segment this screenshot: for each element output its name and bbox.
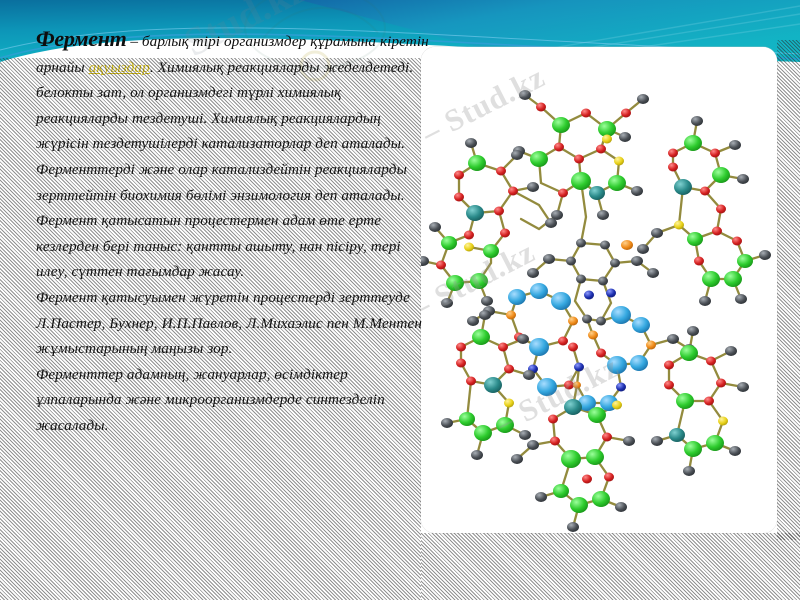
presentation-slide: Stud.kz Фермент – барлық тірі организмде…: [0, 0, 800, 600]
page-title: Фермент: [36, 26, 126, 51]
highlight-term: ақуыздар: [89, 59, 150, 76]
halftone-overlay-right: [777, 40, 800, 540]
halftone-overlay-bottom: [421, 533, 800, 600]
molecule-diagram: [421, 47, 777, 533]
molecular-structure-image: – Stud.kz – Stud.kz – Stud.kz: [421, 47, 777, 533]
paragraph-1: Фермент – барлық тірі организмдер құрамы…: [36, 26, 430, 157]
paragraph-3: Фермент қатысуымен жүретін процестерді з…: [36, 285, 430, 362]
slide-body-text: Фермент – барлық тірі организмдер құрамы…: [36, 26, 430, 439]
paragraph-4: Ферменттер адамның, жануарлар, өсімдікте…: [36, 362, 430, 439]
paragraph-2: Ферменттерді және олар катализдейтін реа…: [36, 157, 430, 285]
